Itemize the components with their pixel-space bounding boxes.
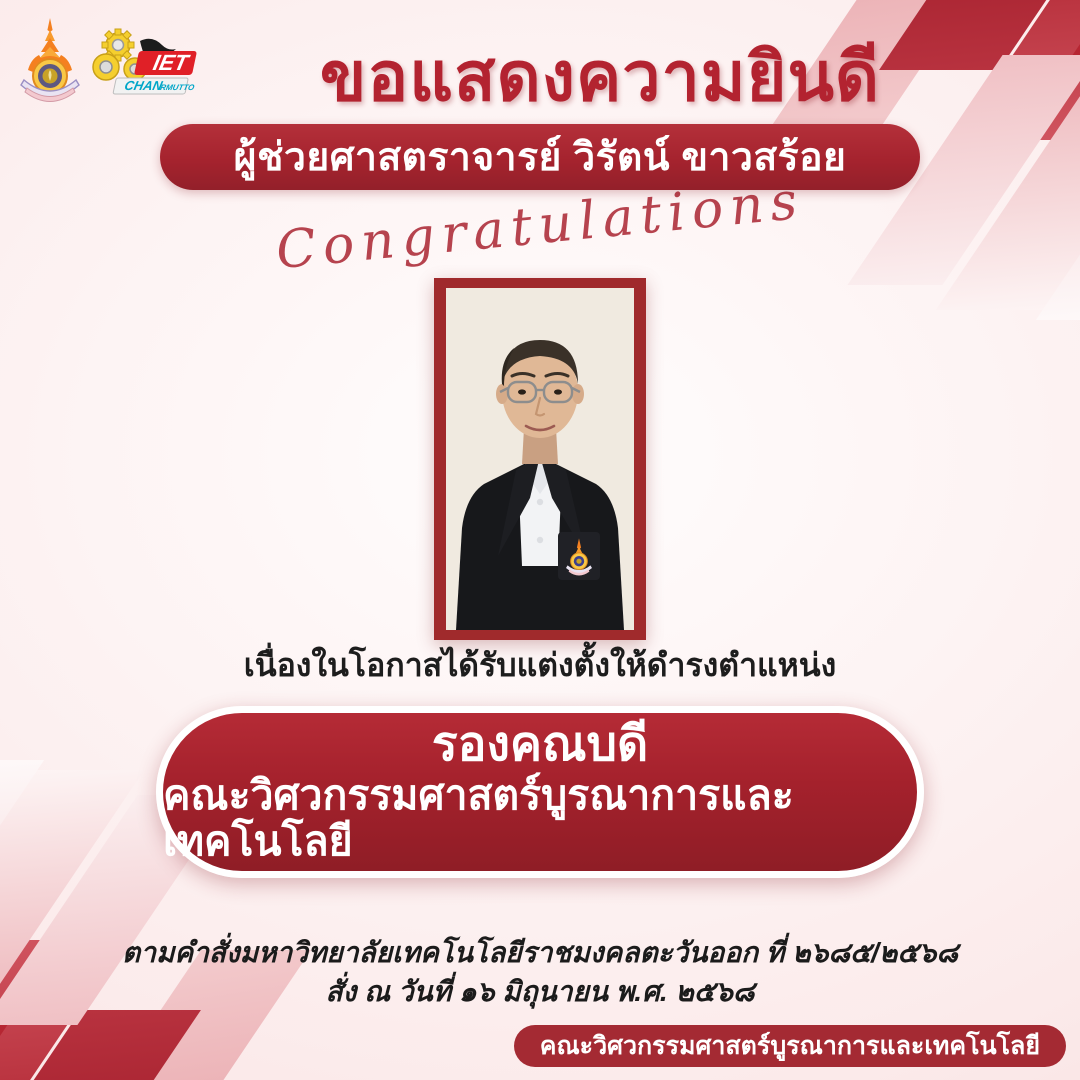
order-line-2: สั่ง ณ วันที่ ๑๖ มิถุนายน พ.ศ. ๒๕๖๘ xyxy=(0,973,1080,1012)
order-reference: ตามคำสั่งมหาวิทยาลัยเทคโนโลยีราชมงคลตะวั… xyxy=(0,934,1080,1011)
footer-faculty-badge: คณะวิศวกรรมศาสตร์บูรณาการและเทคโนโลยี xyxy=(514,1025,1066,1067)
honoree-name-banner: ผู้ช่วยศาสตราจารย์ วิรัตน์ ขาวสร้อย xyxy=(160,124,920,190)
position-faculty: คณะวิศวกรรมศาสตร์บูรณาการและเทคโนโลยี xyxy=(163,773,917,865)
honoree-photo xyxy=(446,288,634,630)
iet-chan-rmutto-logo: IET CHAN RMUTTO xyxy=(90,23,208,101)
rmutto-emblem-logo xyxy=(14,14,86,110)
iet-wordmark: IET xyxy=(134,50,197,75)
position-banner: รองคณบดี คณะวิศวกรรมศาสตร์บูรณาการและเทค… xyxy=(156,706,924,878)
footer-faculty-label: คณะวิศวกรรมศาสตร์บูรณาการและเทคโนโลยี xyxy=(540,1026,1040,1066)
logo-row: IET CHAN RMUTTO xyxy=(14,14,208,110)
honoree-photo-frame xyxy=(434,278,646,640)
congratulations-poster: IET CHAN RMUTTO ขอแสดงความยินดี ผู้ช่วยศ… xyxy=(0,0,1080,1080)
svg-text:RMUTTO: RMUTTO xyxy=(159,83,196,92)
honoree-name: ผู้ช่วยศาสตราจารย์ วิรัตน์ ขาวสร้อย xyxy=(234,126,847,188)
svg-text:CHAN: CHAN xyxy=(123,78,164,93)
occasion-caption: เนื่องในโอกาสได้รับแต่งตั้งให้ดำรงตำแหน่… xyxy=(0,640,1080,691)
position-title: รองคณบดี xyxy=(432,719,648,771)
chan-rmutto-wordmark: CHAN RMUTTO xyxy=(113,78,196,94)
order-line-1: ตามคำสั่งมหาวิทยาลัยเทคโนโลยีราชมงคลตะวั… xyxy=(0,934,1080,973)
